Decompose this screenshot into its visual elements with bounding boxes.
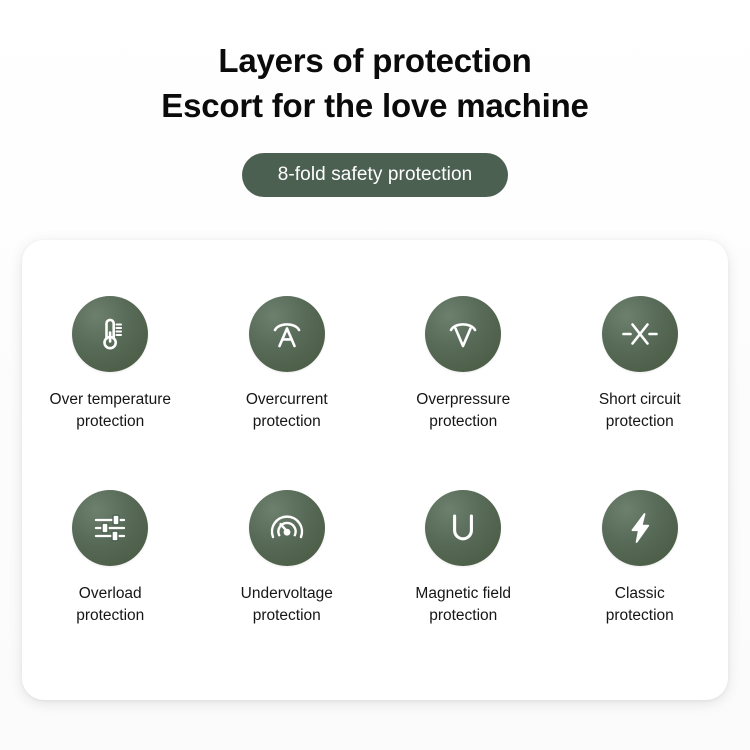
feature-label-line-2: protection: [246, 411, 328, 433]
page-title-line-1: Layers of protection: [0, 38, 750, 83]
promo-page: Layers of protection Escort for the love…: [0, 0, 750, 750]
feature-label-line-2: protection: [416, 411, 510, 433]
feature-label: Short circuit protection: [599, 389, 681, 433]
feature-label: Magnetic field protection: [415, 583, 511, 627]
feature-label-line-2: protection: [606, 605, 674, 627]
feature-label: Overcurrent protection: [246, 389, 328, 433]
page-title-line-2: Escort for the love machine: [0, 83, 750, 128]
feature-row-2: Overload protection: [22, 490, 728, 690]
overvoltage-volt-icon: [425, 296, 501, 372]
short-circuit-icon: [602, 296, 678, 372]
feature-row-1: Over temperature protection: [22, 296, 728, 496]
page-title: Layers of protection Escort for the love…: [0, 38, 750, 128]
feature-label-line-1: Over temperature: [50, 391, 171, 408]
feature-label-line-2: protection: [76, 605, 144, 627]
overcurrent-ampere-icon: [249, 296, 325, 372]
safety-badge: 8-fold safety protection: [242, 153, 509, 197]
magnet-u-icon: [425, 490, 501, 566]
protection-features-card: Over temperature protection: [22, 240, 728, 700]
feature-label: Overload protection: [76, 583, 144, 627]
feature-item-classic[interactable]: Classic protection: [552, 490, 729, 690]
feature-item-undervoltage[interactable]: Undervoltage protection: [199, 490, 376, 690]
feature-label-line-2: protection: [415, 605, 511, 627]
feature-label-line-1: Overcurrent: [246, 391, 328, 408]
badge-container: 8-fold safety protection: [0, 153, 750, 197]
gauge-undervoltage-icon: [249, 490, 325, 566]
feature-label-line-2: protection: [241, 605, 333, 627]
feature-label-line-2: protection: [599, 411, 681, 433]
lightning-bolt-icon: [602, 490, 678, 566]
feature-label: Overpressure protection: [416, 389, 510, 433]
thermometer-icon: [72, 296, 148, 372]
feature-item-magnetic-field[interactable]: Magnetic field protection: [375, 490, 552, 690]
feature-label: Classic protection: [606, 583, 674, 627]
feature-item-overload[interactable]: Overload protection: [22, 490, 199, 690]
feature-label-line-2: protection: [50, 411, 171, 433]
feature-label-line-1: Undervoltage: [241, 585, 333, 602]
feature-item-short-circuit[interactable]: Short circuit protection: [552, 296, 729, 496]
feature-label-line-1: Classic: [615, 585, 665, 602]
feature-item-overcurrent[interactable]: Overcurrent protection: [199, 296, 376, 496]
feature-label-line-1: Overpressure: [416, 391, 510, 408]
feature-grid: Over temperature protection: [22, 240, 728, 700]
feature-label: Over temperature protection: [50, 389, 171, 433]
feature-item-over-temperature[interactable]: Over temperature protection: [22, 296, 199, 496]
feature-label-line-1: Short circuit: [599, 391, 681, 408]
feature-label-line-1: Overload: [79, 585, 142, 602]
feature-label: Undervoltage protection: [241, 583, 333, 627]
feature-label-line-1: Magnetic field: [415, 585, 511, 602]
sliders-overload-icon: [72, 490, 148, 566]
feature-item-overpressure[interactable]: Overpressure protection: [375, 296, 552, 496]
